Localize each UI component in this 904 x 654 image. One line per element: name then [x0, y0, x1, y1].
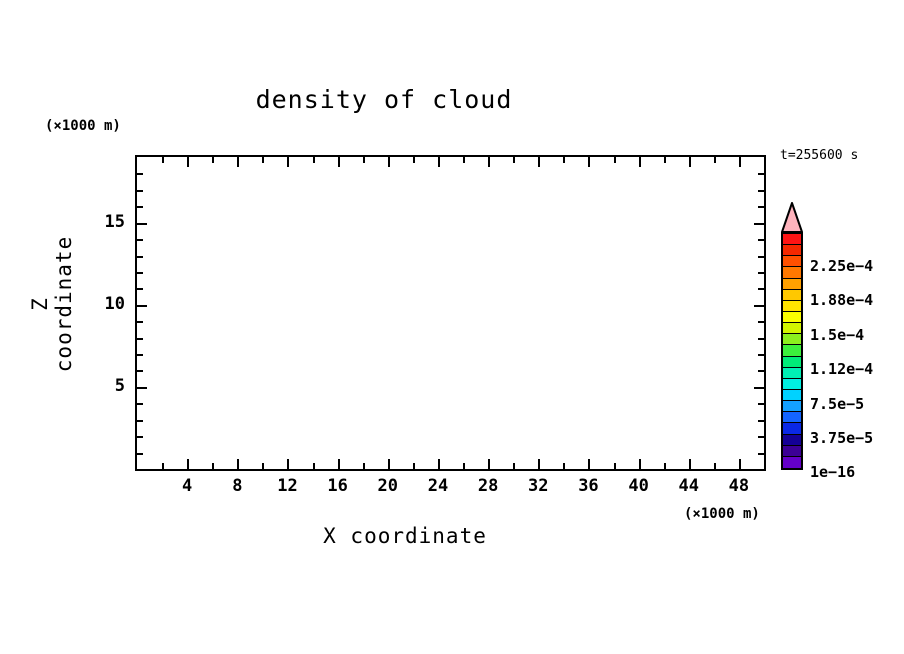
y-minor-tick-right	[758, 453, 764, 455]
y-minor-tick	[137, 190, 143, 192]
chart-root: density of cloud (×1000 m) (×1000 m) X c…	[0, 0, 904, 654]
colorbar-cell	[783, 245, 801, 256]
x-minor-tick-top	[212, 157, 214, 163]
x-tick-label: 32	[518, 476, 558, 496]
y-minor-tick	[137, 288, 143, 290]
colorbar-label: 2.25e−4	[810, 257, 873, 275]
y-minor-tick	[137, 436, 143, 438]
y-minor-tick	[137, 420, 143, 422]
colorbar-cell	[783, 357, 801, 368]
colorbar-label: 1.88e−4	[810, 291, 873, 309]
x-axis-title: X coordinate	[0, 524, 904, 548]
y-minor-tick-right	[758, 321, 764, 323]
x-major-tick-top	[388, 157, 390, 167]
y-minor-tick	[137, 173, 143, 175]
x-major-tick-top	[338, 157, 340, 167]
colorbar-cell	[783, 412, 801, 423]
y-minor-tick	[137, 321, 143, 323]
x-minor-tick	[463, 463, 465, 469]
colorbar-cell	[783, 267, 801, 278]
y-minor-tick-right	[758, 239, 764, 241]
colorbar-cell	[783, 256, 801, 267]
x-minor-tick	[413, 463, 415, 469]
x-major-tick	[488, 459, 490, 469]
x-major-tick	[639, 459, 641, 469]
x-major-tick	[388, 459, 390, 469]
x-tick-label: 40	[619, 476, 659, 496]
x-minor-tick	[513, 463, 515, 469]
y-minor-tick	[137, 272, 143, 274]
y-minor-tick-right	[758, 338, 764, 340]
density-field-canvas	[137, 157, 764, 469]
colorbar-cell	[783, 345, 801, 356]
colorbar-cell	[783, 334, 801, 345]
colorbar-cell	[783, 379, 801, 390]
x-minor-tick-top	[614, 157, 616, 163]
y-tick-label: 15	[95, 212, 125, 232]
y-minor-tick-right	[758, 354, 764, 356]
colorbar-cell	[783, 234, 801, 245]
x-minor-tick	[614, 463, 616, 469]
colorbar	[781, 232, 803, 470]
colorbar-cell	[783, 279, 801, 290]
y-minor-tick	[137, 239, 143, 241]
y-minor-tick-right	[758, 403, 764, 405]
colorbar-cell	[783, 323, 801, 334]
x-tick-label: 28	[468, 476, 508, 496]
colorbar-label: 7.5e−5	[810, 395, 864, 413]
colorbar-label: 1.12e−4	[810, 360, 873, 378]
y-minor-tick	[137, 256, 143, 258]
x-tick-label: 12	[267, 476, 307, 496]
x-major-tick	[739, 459, 741, 469]
x-minor-tick	[313, 463, 315, 469]
x-major-tick-top	[538, 157, 540, 167]
x-minor-tick-top	[563, 157, 565, 163]
x-major-tick-top	[588, 157, 590, 167]
y-minor-tick-right	[758, 436, 764, 438]
colorbar-cell	[783, 401, 801, 412]
x-minor-tick-top	[664, 157, 666, 163]
x-minor-tick	[262, 463, 264, 469]
x-major-tick-top	[287, 157, 289, 167]
x-minor-tick-top	[363, 157, 365, 163]
x-minor-tick	[563, 463, 565, 469]
x-minor-tick-top	[714, 157, 716, 163]
z-axis-units-label: (×1000 m)	[45, 118, 121, 134]
y-minor-tick	[137, 338, 143, 340]
y-minor-tick-right	[758, 288, 764, 290]
x-minor-tick-top	[513, 157, 515, 163]
x-tick-label: 48	[719, 476, 759, 496]
x-tick-label: 16	[318, 476, 358, 496]
x-minor-tick-top	[413, 157, 415, 163]
colorbar-cell	[783, 368, 801, 379]
x-major-tick	[237, 459, 239, 469]
colorbar-cell	[783, 290, 801, 301]
y-minor-tick-right	[758, 190, 764, 192]
colorbar-gradient	[781, 232, 803, 470]
x-minor-tick	[363, 463, 365, 469]
colorbar-cell	[783, 446, 801, 457]
x-tick-label: 44	[669, 476, 709, 496]
x-major-tick-top	[237, 157, 239, 167]
colorbar-cell	[783, 390, 801, 401]
x-major-tick-top	[739, 157, 741, 167]
x-major-tick-top	[187, 157, 189, 167]
y-major-tick	[137, 305, 147, 307]
y-minor-tick	[137, 453, 143, 455]
colorbar-label: 1.5e−4	[810, 326, 864, 344]
y-major-tick-right	[754, 223, 764, 225]
x-minor-tick	[714, 463, 716, 469]
x-tick-label: 8	[217, 476, 257, 496]
x-minor-tick-top	[262, 157, 264, 163]
y-minor-tick-right	[758, 173, 764, 175]
x-axis-title-text: X coordinate	[323, 524, 487, 548]
x-tick-label: 36	[568, 476, 608, 496]
y-minor-tick-right	[758, 420, 764, 422]
x-major-tick-top	[689, 157, 691, 167]
x-major-tick	[187, 459, 189, 469]
colorbar-cell	[783, 457, 801, 468]
y-tick-label: 10	[95, 294, 125, 314]
x-axis-units-label: (×1000 m)	[684, 506, 760, 522]
y-minor-tick	[137, 403, 143, 405]
x-minor-tick	[162, 463, 164, 469]
x-minor-tick	[664, 463, 666, 469]
x-tick-label: 4	[167, 476, 207, 496]
y-major-tick	[137, 223, 147, 225]
colorbar-cell	[783, 312, 801, 323]
y-minor-tick-right	[758, 206, 764, 208]
y-axis-title: Z coordinate	[28, 224, 76, 384]
x-major-tick-top	[639, 157, 641, 167]
time-annotation: t=255600 s	[780, 148, 858, 163]
x-minor-tick-top	[463, 157, 465, 163]
y-minor-tick-right	[758, 256, 764, 258]
y-major-tick-right	[754, 387, 764, 389]
y-major-tick-right	[754, 305, 764, 307]
x-major-tick	[588, 459, 590, 469]
colorbar-overflow-arrow-icon	[781, 202, 803, 233]
y-minor-tick	[137, 354, 143, 356]
x-minor-tick	[212, 463, 214, 469]
x-minor-tick-top	[162, 157, 164, 163]
x-tick-label: 20	[368, 476, 408, 496]
colorbar-cell	[783, 423, 801, 434]
y-minor-tick-right	[758, 370, 764, 372]
x-tick-label: 24	[418, 476, 458, 496]
plot-area	[135, 155, 766, 471]
x-major-tick	[338, 459, 340, 469]
colorbar-label: 3.75e−5	[810, 429, 873, 447]
y-tick-label: 5	[95, 376, 125, 396]
page-title: density of cloud	[0, 85, 768, 114]
colorbar-cell	[783, 301, 801, 312]
y-minor-tick	[137, 206, 143, 208]
x-major-tick-top	[438, 157, 440, 167]
x-major-tick	[287, 459, 289, 469]
x-major-tick	[689, 459, 691, 469]
colorbar-cell	[783, 435, 801, 446]
y-major-tick	[137, 387, 147, 389]
y-minor-tick-right	[758, 272, 764, 274]
x-major-tick	[438, 459, 440, 469]
x-major-tick	[538, 459, 540, 469]
y-minor-tick	[137, 370, 143, 372]
x-minor-tick-top	[313, 157, 315, 163]
colorbar-label: 1e−16	[810, 463, 855, 481]
x-major-tick-top	[488, 157, 490, 167]
